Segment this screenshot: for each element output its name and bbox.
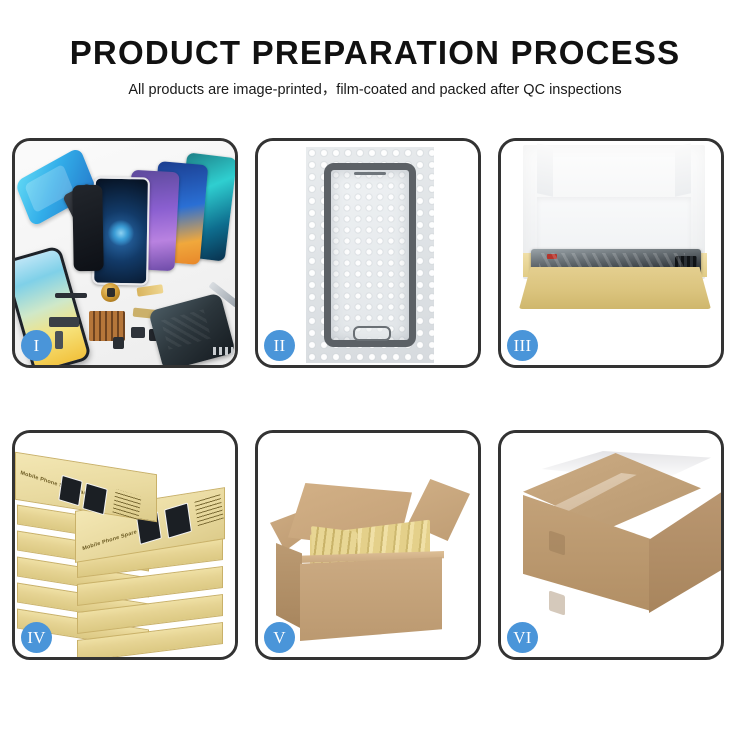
box-artwork-screen-icon [58, 475, 82, 506]
step-3-photo [501, 141, 721, 365]
carton-front-icon [300, 557, 442, 641]
step-badge-3: III [507, 330, 538, 361]
step-panel-3: III [498, 138, 724, 368]
box-artwork-screen-icon [82, 483, 108, 516]
carton-handle-slot-bottom-icon [549, 590, 565, 615]
box-spec-lines-icon [112, 489, 141, 520]
wrapped-screen-icon [324, 163, 416, 347]
screws-icon [213, 347, 233, 355]
part-copper-coil-icon [101, 283, 120, 302]
step-panel-2: II [255, 138, 481, 368]
step-badge-5: V [264, 622, 295, 653]
part-flex-bar-icon [55, 293, 87, 298]
part-connector-4-icon [131, 327, 145, 338]
step-panel-1: I [12, 138, 238, 368]
box-spec-lines-icon [194, 493, 223, 526]
step-badge-2: II [264, 330, 295, 361]
step-5-photo [258, 433, 478, 657]
page-subtitle: All products are image-printed，film-coat… [0, 80, 750, 100]
part-connector-2-icon [55, 331, 63, 349]
carton-side-face-icon [649, 491, 721, 613]
step-badge-6: VI [507, 622, 538, 653]
kraft-box-front-icon [519, 267, 711, 309]
step-6-photo [501, 433, 721, 657]
step-panel-6: VI [498, 430, 724, 660]
product-preparation-infographic: PRODUCT PREPARATION PROCESS All products… [0, 0, 750, 750]
part-camera-module-icon [113, 337, 124, 349]
retail-box-stack: Mobile Phone Spare Parts Mobile Phone Sp… [15, 433, 235, 657]
part-connector-1-icon [49, 317, 79, 327]
step-badge-1: I [21, 330, 52, 361]
earpiece-icon [354, 172, 386, 175]
step-panel-5: V [255, 430, 481, 660]
process-steps-grid: I II [12, 138, 738, 660]
step-1-photo [15, 141, 235, 365]
label-sticker-icon [547, 254, 557, 259]
step-panel-4: Mobile Phone Spare Parts Mobile Phone Sp… [12, 430, 238, 660]
step-4-photo: Mobile Phone Spare Parts Mobile Phone Sp… [15, 433, 235, 657]
part-flex-cable-icon [137, 284, 164, 297]
box-flap-right-icon [675, 143, 691, 196]
phone-dark-edge-icon [72, 185, 103, 272]
carton-side-left-icon [276, 543, 302, 629]
box-flap-left-icon [537, 143, 553, 196]
home-button-icon [353, 326, 391, 341]
box-artwork-screen-icon [164, 502, 192, 538]
connector-strip-icon [675, 256, 697, 268]
step-badge-4: IV [21, 622, 52, 653]
header: PRODUCT PREPARATION PROCESS All products… [0, 34, 750, 100]
page-title: PRODUCT PREPARATION PROCESS [0, 34, 750, 72]
step-2-photo [258, 141, 478, 365]
